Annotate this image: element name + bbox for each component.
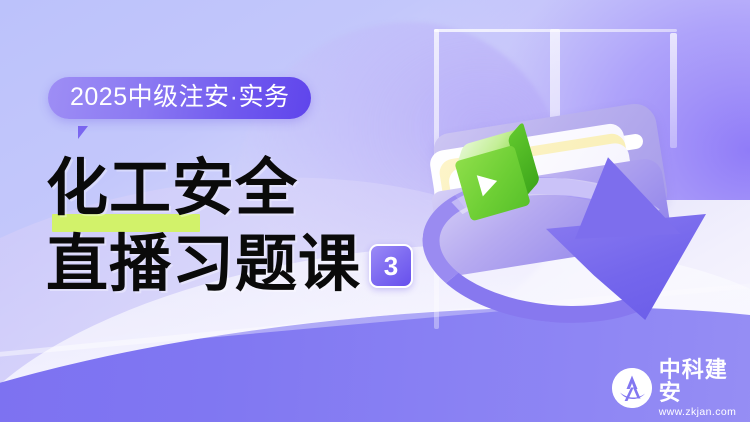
logo-text-group: 中科建安 www.zkjan.com xyxy=(659,358,750,419)
headline-line-1: 化工安全 xyxy=(46,158,486,221)
episode-number-badge: 3 xyxy=(369,244,413,288)
headline-block: 化工安全 直播习题课 3 xyxy=(46,158,486,297)
course-promo-banner: 2025中级注安·实务 化工安全 直播习题课 3 中科建安 www.zkjan.… xyxy=(0,0,750,422)
badge-pointer-tail xyxy=(78,126,88,139)
zkjan-circle-logo-icon xyxy=(612,368,652,408)
brand-logo: 中科建安 www.zkjan.com xyxy=(612,358,750,419)
headline-line-2: 直播习题课 xyxy=(46,234,361,297)
course-category-badge: 2025中级注安·实务 xyxy=(48,77,311,119)
logo-website-url: www.zkjan.com xyxy=(659,406,750,419)
headline-line-1-wrap: 化工安全 xyxy=(46,158,486,221)
panel-bar-right-icon xyxy=(670,33,677,148)
logo-brand-name: 中科建安 xyxy=(659,358,750,404)
headline-line-2-wrap: 直播习题课 3 xyxy=(46,234,486,297)
